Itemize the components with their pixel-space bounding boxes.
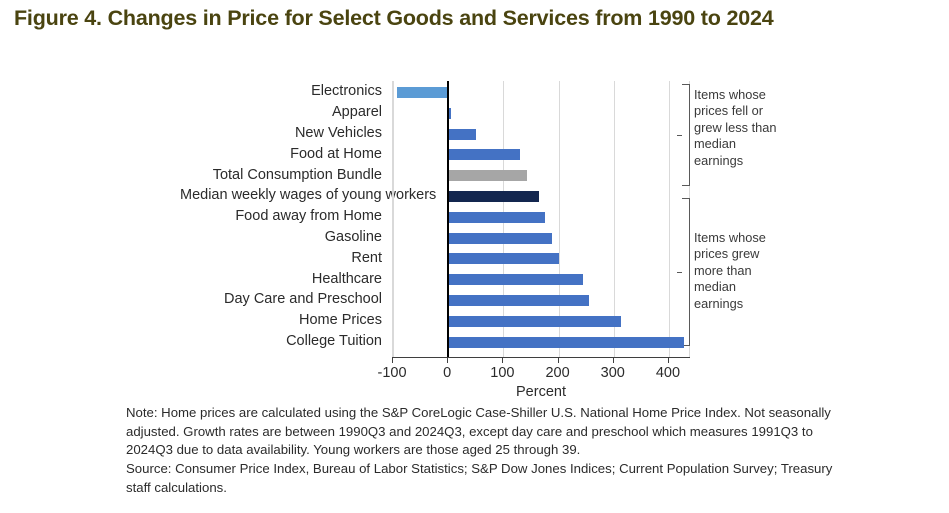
bar (397, 87, 448, 98)
x-axis-line (392, 357, 690, 358)
bar (448, 170, 526, 181)
category-label: Apparel (180, 105, 382, 120)
category-label: Healthcare (180, 272, 382, 287)
footnote-source: Source: Consumer Price Index, Bureau of … (126, 460, 838, 497)
bar-chart: ElectronicsApparelNew VehiclesFood at Ho… (0, 78, 949, 398)
gridline (393, 81, 394, 357)
x-axis-title: Percent (392, 384, 690, 400)
bracket-lower-nub (677, 272, 682, 273)
category-label: Day Care and Preschool (180, 292, 382, 307)
category-axis-labels: ElectronicsApparelNew VehiclesFood at Ho… (180, 78, 382, 358)
plot-area (392, 81, 690, 357)
x-tick-label: 0 (443, 365, 451, 381)
x-tick (613, 357, 614, 363)
annotation-lower: Items whose prices grew more than median… (694, 230, 786, 312)
bar (448, 274, 583, 285)
bar (448, 191, 539, 202)
bar (448, 129, 476, 140)
category-label: Rent (180, 251, 382, 266)
page-title: Figure 4. Changes in Price for Select Go… (14, 6, 934, 31)
x-tick (447, 357, 448, 363)
bar (448, 149, 520, 160)
x-tick-label: 400 (656, 365, 680, 381)
x-tick (668, 357, 669, 363)
bar (448, 337, 684, 348)
footnote-note: Note: Home prices are calculated using t… (126, 404, 838, 460)
category-label: Food away from Home (180, 209, 382, 224)
bracket-upper (682, 84, 690, 186)
footnote: Note: Home prices are calculated using t… (126, 404, 838, 498)
bracket-upper-nub (677, 135, 682, 136)
category-label: Food at Home (180, 147, 382, 162)
gridline (669, 81, 670, 357)
x-tick-label: 100 (490, 365, 514, 381)
x-tick (502, 357, 503, 363)
bar (448, 295, 589, 306)
bar (448, 212, 545, 223)
x-tick-label: 300 (601, 365, 625, 381)
category-label: College Tuition (180, 334, 382, 349)
category-label: Gasoline (180, 230, 382, 245)
x-tick-label: 200 (545, 365, 569, 381)
category-label: Electronics (180, 84, 382, 99)
zero-axis-line (447, 81, 449, 357)
annotation-upper: Items whose prices fell or grew less tha… (694, 87, 786, 169)
x-tick (392, 357, 393, 363)
x-tick (558, 357, 559, 363)
bracket-lower (682, 198, 690, 346)
bar (448, 316, 621, 327)
category-label: Home Prices (180, 313, 382, 328)
bar (448, 233, 552, 244)
category-label: Median weekly wages of young workers (180, 188, 382, 203)
x-tick-label: -100 (377, 365, 406, 381)
category-label: Total Consumption Bundle (180, 168, 382, 183)
category-label: New Vehicles (180, 126, 382, 141)
bar (448, 253, 559, 264)
